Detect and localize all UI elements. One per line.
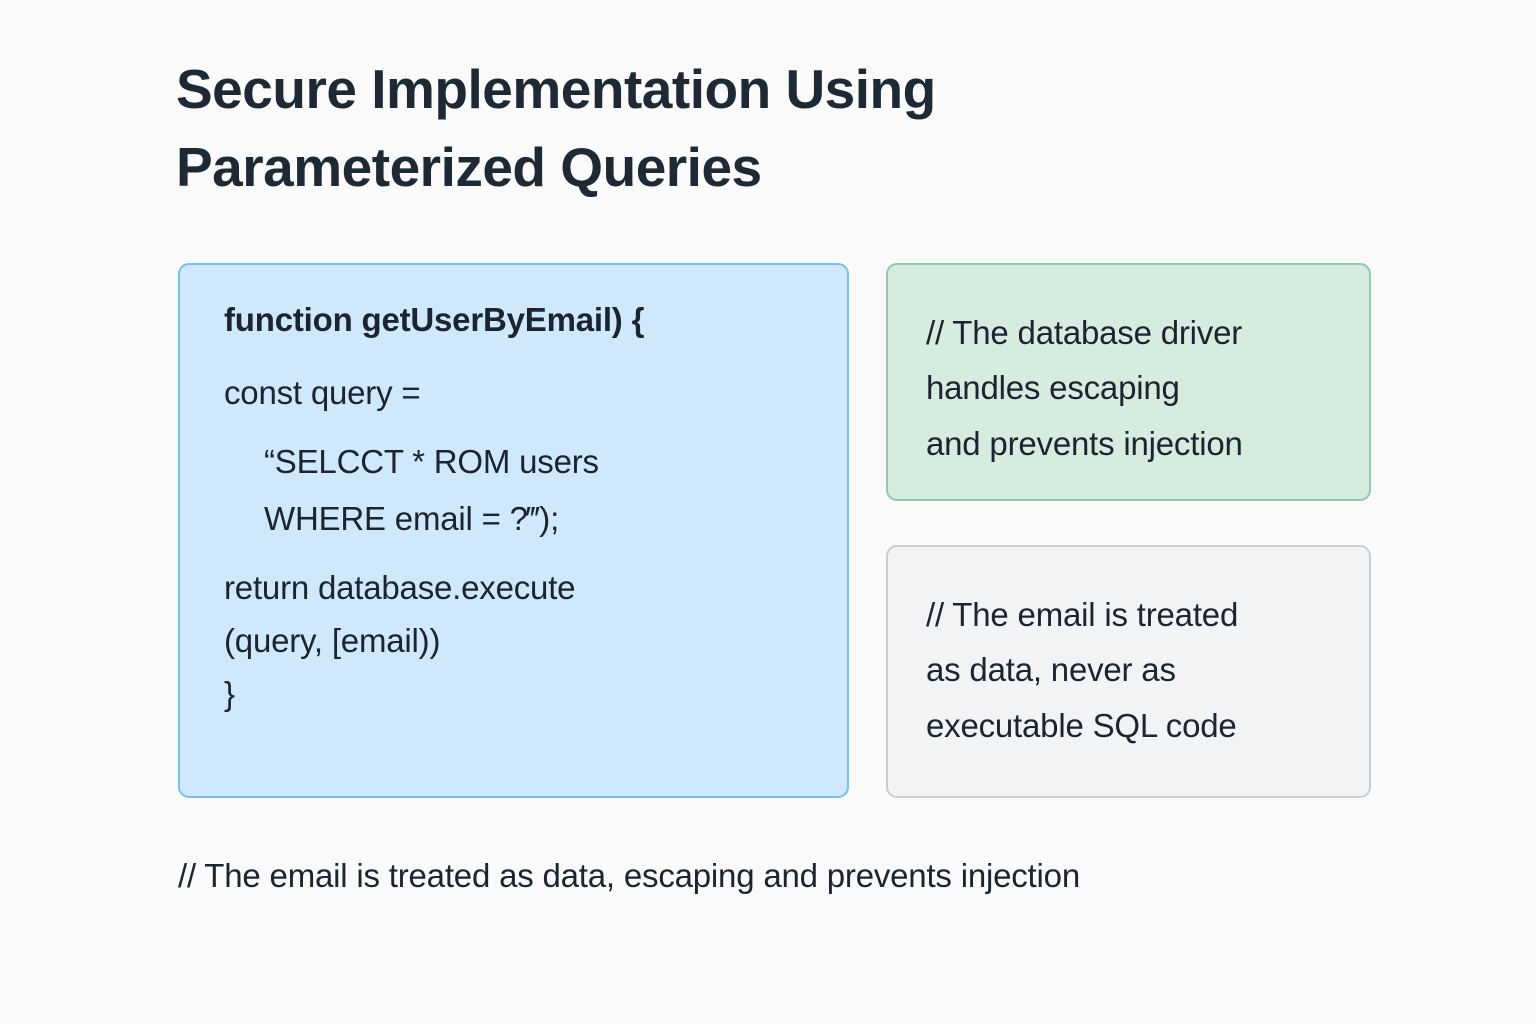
note-panel-driver-escaping: // The database driver handles escaping … xyxy=(886,263,1371,501)
code-line: return database.execute xyxy=(224,571,833,604)
code-line: function getUserByEmail) { xyxy=(224,303,833,336)
code-block: function getUserByEmail) { const query =… xyxy=(224,303,833,710)
note-line: // The database driver xyxy=(926,305,1353,360)
page-title-line-2: Parameterized Queries xyxy=(176,128,1226,206)
page-title-line-1: Secure Implementation Using xyxy=(176,50,1226,128)
note-text-gray: // The email is treated as data, never a… xyxy=(926,587,1353,753)
note-line: executable SQL code xyxy=(926,698,1353,753)
note-line: and prevents injection xyxy=(926,416,1353,471)
code-line: (query, [email)) xyxy=(224,624,833,657)
note-line: as data, never as xyxy=(926,642,1353,697)
code-line: WHERE email = ?‴); xyxy=(224,502,833,535)
note-line: handles escaping xyxy=(926,360,1353,415)
code-line: const query = xyxy=(224,376,833,409)
footer-caption: // The email is treated as data, escapin… xyxy=(178,853,1080,899)
note-line: // The email is treated xyxy=(926,587,1353,642)
code-line: “SELCCT * ROM users xyxy=(224,445,833,478)
code-line: } xyxy=(224,677,833,710)
note-panel-email-as-data: // The email is treated as data, never a… xyxy=(886,545,1371,798)
code-snippet-panel: function getUserByEmail) { const query =… xyxy=(178,263,849,798)
note-text-green: // The database driver handles escaping … xyxy=(926,305,1353,471)
page-title: Secure Implementation Using Parameterize… xyxy=(176,50,1226,206)
